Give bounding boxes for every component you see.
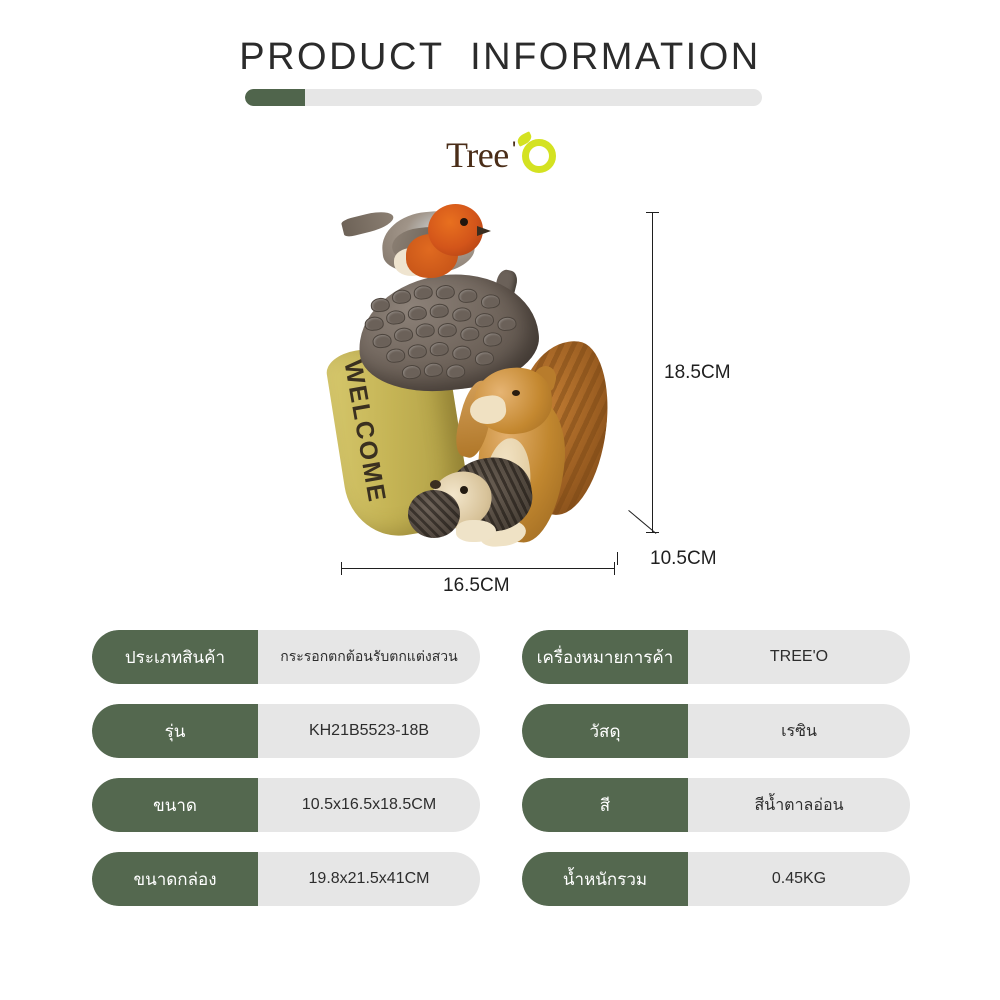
brand-logo-ring-o-icon: [522, 139, 556, 173]
spec-value: เรซิน: [688, 704, 910, 758]
spec-key: เครื่องหมายการค้า: [522, 630, 688, 684]
hedgehog-eye: [460, 486, 468, 494]
hedgehog-foot: [456, 520, 496, 542]
column-gap: [480, 852, 522, 906]
column-gap: [480, 630, 522, 684]
table-row: ขนาดกล่อง 19.8x21.5x41CM: [92, 852, 480, 906]
bird-beak: [477, 226, 491, 236]
bird-eye: [460, 218, 468, 226]
header-progress-bar: [245, 89, 762, 106]
small-pinecone: [408, 490, 460, 538]
height-dimension-cap-top: [646, 212, 659, 213]
depth-dimension-cap: [617, 552, 618, 565]
height-dimension-label: 18.5CM: [664, 362, 731, 384]
spec-value: 10.5x16.5x18.5CM: [258, 778, 480, 832]
spec-key: สี: [522, 778, 688, 832]
brand-logo-text: Tree: [446, 134, 509, 176]
spec-value: TREE'O: [688, 630, 910, 684]
specifications-table: ประเภทสินค้า กระรอกตกต้อนรับตกแต่งสวน เค…: [92, 630, 910, 906]
header-progress-bar-fill: [245, 89, 305, 106]
spec-value: กระรอกตกต้อนรับตกแต่งสวน: [258, 630, 480, 684]
table-row: น้ำหนักรวม 0.45KG: [522, 852, 910, 906]
height-dimension-line: [652, 212, 653, 533]
column-gap: [480, 704, 522, 758]
spec-key: ประเภทสินค้า: [92, 630, 258, 684]
product-image: WELCOME: [320, 190, 650, 560]
table-row: วัสดุ เรซิน: [522, 704, 910, 758]
bird-head: [428, 204, 483, 256]
brand-logo: Tree ': [446, 133, 566, 179]
column-gap: [480, 778, 522, 832]
table-row: สี สีน้ำตาลอ่อน: [522, 778, 910, 832]
width-dimension-label: 16.5CM: [443, 575, 510, 597]
spec-value: 19.8x21.5x41CM: [258, 852, 480, 906]
spec-value: 0.45KG: [688, 852, 910, 906]
spec-key: น้ำหนักรวม: [522, 852, 688, 906]
table-row: ขนาด 10.5x16.5x18.5CM: [92, 778, 480, 832]
brand-logo-apostrophe: ': [512, 137, 516, 163]
spec-key: ขนาดกล่อง: [92, 852, 258, 906]
spec-value: สีน้ำตาลอ่อน: [688, 778, 910, 832]
width-dimension-cap-left: [341, 562, 342, 575]
squirrel-eye: [512, 390, 520, 396]
table-row: รุ่น KH21B5523-18B: [92, 704, 480, 758]
width-dimension-line: [341, 568, 615, 569]
depth-dimension-label: 10.5CM: [650, 548, 717, 570]
page-title: PRODUCT INFORMATION: [0, 36, 1000, 79]
spec-key: รุ่น: [92, 704, 258, 758]
spec-key: ขนาด: [92, 778, 258, 832]
spec-value: KH21B5523-18B: [258, 704, 480, 758]
width-dimension-cap-right: [614, 562, 615, 575]
hedgehog-nose: [430, 480, 441, 489]
table-row: เครื่องหมายการค้า TREE'O: [522, 630, 910, 684]
table-row: ประเภทสินค้า กระรอกตกต้อนรับตกแต่งสวน: [92, 630, 480, 684]
spec-key: วัสดุ: [522, 704, 688, 758]
